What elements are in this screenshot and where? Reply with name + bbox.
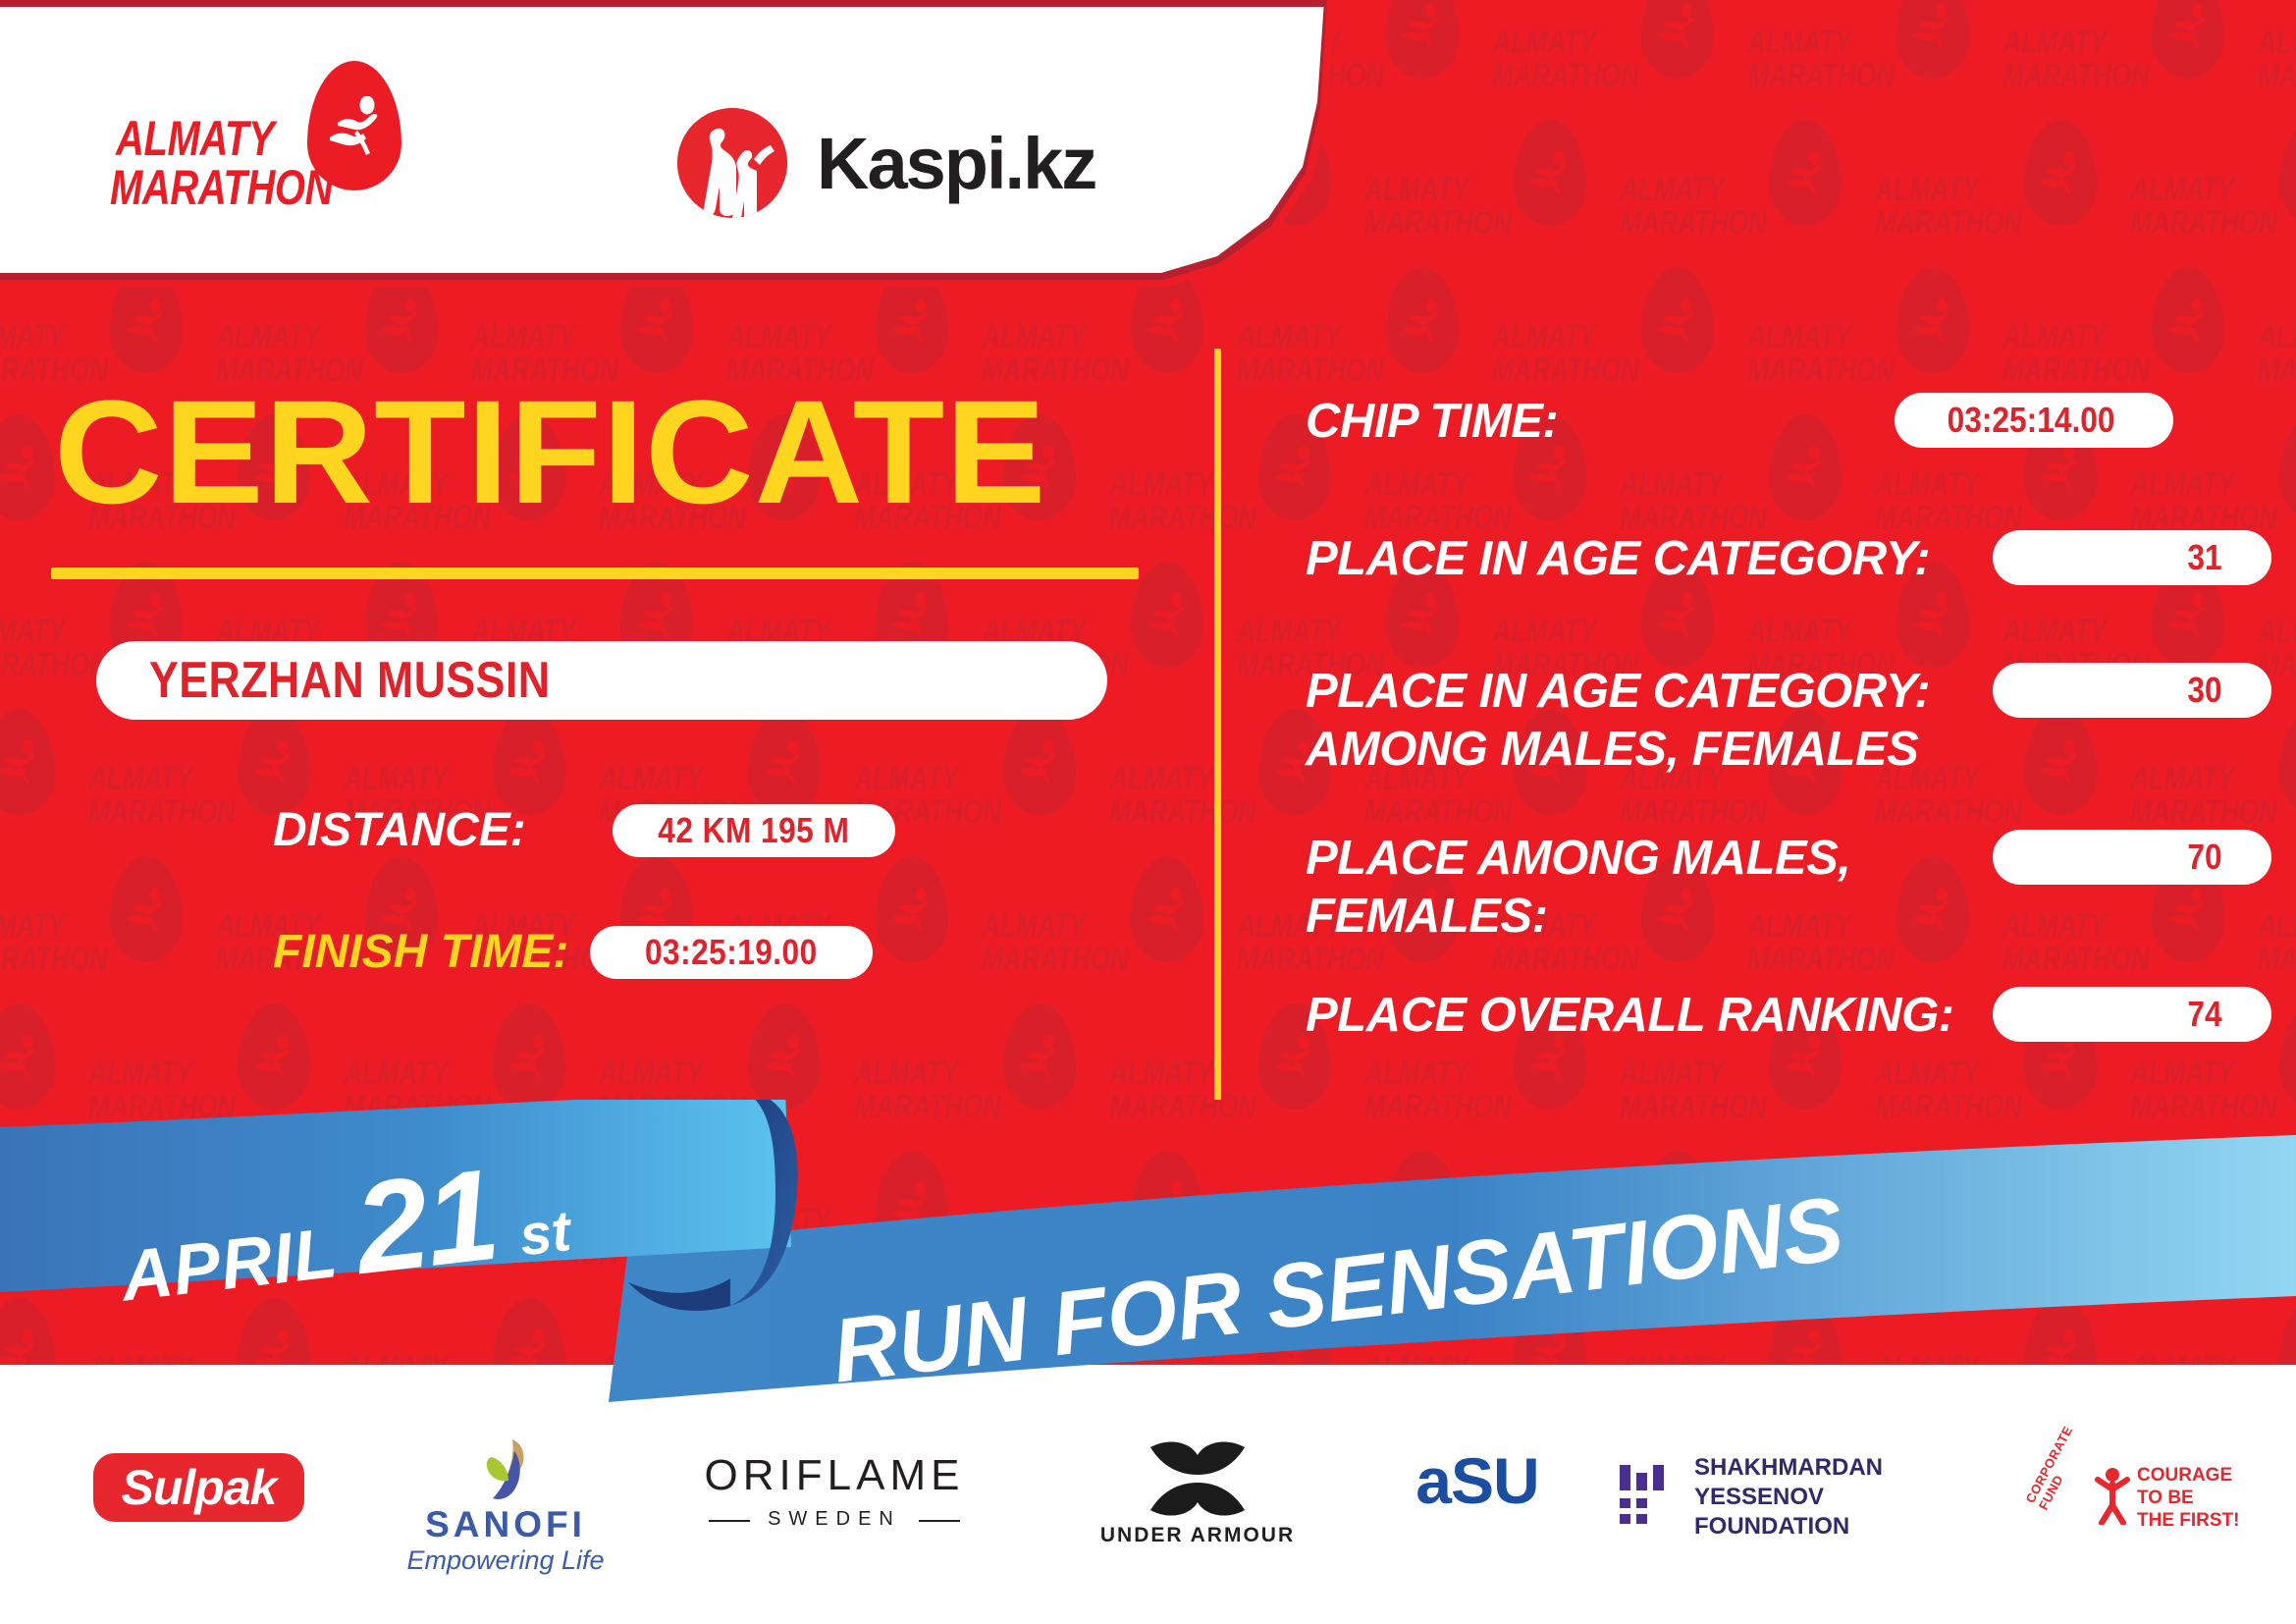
- result-row-place-age-category: PLACE IN AGE CATEGORY: 31: [1306, 530, 2271, 588]
- result-value-pill: 70: [1993, 830, 2271, 885]
- watermark-drop-icon: [1131, 0, 1203, 79]
- participant-name-value: YERZHAN MUSSIN: [149, 651, 551, 710]
- sponsor-courage-line3: THE FIRST!: [2137, 1509, 2245, 1532]
- watermark-line1: ALMATY: [216, 26, 320, 59]
- kaspi-logo: Kaspi.kz: [677, 108, 1095, 218]
- distance-value-pill: 42 KM 195 M: [613, 804, 895, 857]
- watermark-line1: ALMATY: [471, 26, 575, 59]
- certificate-page: ALMATYMARATHONALMATYMARATHONALMATYMARATH…: [0, 0, 2296, 1624]
- column-divider: [1214, 349, 1221, 1100]
- sponsor-yessenov-foundation: SHAKHMARDAN YESSENOV FOUNDATION: [1620, 1448, 2002, 1546]
- sponsor-courage-fund-text: COURAGE TO BE THE FIRST!: [2137, 1464, 2245, 1532]
- page-title: CERTIFICATE: [54, 378, 1046, 525]
- finish-time-row: FINISH TIME: 03:25:19.00: [273, 925, 873, 979]
- watermark-tile: ALMATYMARATHON: [471, 0, 726, 118]
- kaspi-circle-icon: [677, 108, 787, 218]
- sponsor-sanofi: SANOFI Empowering Life: [393, 1435, 618, 1563]
- result-value-pill: 74: [1993, 987, 2271, 1042]
- watermark-line2: MARATHON: [216, 1532, 363, 1565]
- runner-icon: [328, 96, 385, 157]
- ribbon-day-suffix: st: [516, 1198, 574, 1269]
- sponsor-sanofi-label: SANOFI: [393, 1504, 618, 1545]
- distance-value: 42 KM 195 M: [658, 810, 849, 851]
- result-row-chip-time: CHIP TIME: 03:25:14.00: [1306, 393, 2173, 451]
- finish-time-value-pill: 03:25:19.00: [590, 926, 873, 979]
- watermark-line1: ALMATY: [982, 1498, 1086, 1532]
- result-value: 70: [2187, 837, 2221, 878]
- sponsor-under-armour: UNDER ARMOUR: [1085, 1441, 1310, 1559]
- watermark-line2: MARATHON: [2258, 1532, 2296, 1565]
- watermark-drop-icon: [493, 120, 565, 226]
- watermark-line1: ALMATY: [0, 1498, 65, 1532]
- result-value-pill: 30: [1993, 663, 2271, 718]
- watermark-line2: MARATHON: [0, 1532, 108, 1565]
- watermark-line1: ALMATY: [1109, 173, 1213, 206]
- sponsor-courage-line2: TO BE: [2137, 1487, 2245, 1509]
- result-label: CHIP TIME:: [1306, 393, 1895, 451]
- sponsor-courage-line1: COURAGE: [2137, 1464, 2245, 1487]
- sponsor-under-armour-label: UNDER ARMOUR: [1085, 1524, 1310, 1547]
- sponsor-oriflame-sub: SWEDEN: [687, 1508, 982, 1531]
- sponsor-yessenov-line2: FOUNDATION: [1694, 1512, 2002, 1542]
- result-value-pill: 03:25:14.00: [1895, 393, 2173, 448]
- finish-time-label: FINISH TIME:: [273, 925, 568, 979]
- sponsor-asu-label: aSU: [1369, 1443, 1585, 1518]
- watermark-line2: MARATHON: [0, 59, 108, 92]
- distance-label: DISTANCE:: [273, 803, 526, 857]
- courage-figure-icon: [2092, 1466, 2133, 1525]
- yessenov-bars-icon: [1620, 1465, 1677, 1530]
- distance-row: DISTANCE: 42 KM 195 M: [273, 803, 895, 857]
- result-row-place-age-category-among: PLACE IN AGE CATEGORY: AMONG MALES, FEMA…: [1306, 663, 2271, 779]
- finish-time-value: 03:25:19.00: [645, 932, 818, 973]
- result-row-place-overall-ranking: PLACE OVERALL RANKING: 74: [1306, 987, 2271, 1045]
- ribbon-month: APRIL: [117, 1213, 342, 1317]
- result-value: 74: [2187, 994, 2221, 1035]
- watermark-line2: MARATHON: [1109, 206, 1256, 240]
- kaspi-logo-text: Kaspi.kz: [817, 122, 1095, 205]
- watermark-drop-icon: [0, 120, 55, 226]
- result-label: PLACE IN AGE CATEGORY:: [1306, 530, 1993, 588]
- sponsor-asu: aSU: [1369, 1443, 1585, 1542]
- result-value-pill: 31: [1993, 530, 2271, 585]
- title-underline: [51, 568, 1139, 579]
- watermark-drop-icon: [620, 1445, 693, 1551]
- result-label: PLACE AMONG MALES, FEMALES:: [1306, 830, 1993, 946]
- under-armour-mark-icon: [1139, 1441, 1256, 1516]
- participant-name-field: YERZHAN MUSSIN: [96, 641, 1107, 720]
- watermark-line1: ALMATY: [982, 26, 1086, 59]
- watermark-drop-icon: [620, 0, 693, 79]
- sponsor-yessenov-line1: SHAKHMARDAN YESSENOV: [1694, 1453, 2002, 1512]
- result-value: 03:25:14.00: [1947, 400, 2114, 441]
- watermark-line2: MARATHON: [982, 59, 1129, 92]
- watermark-line1: ALMATY: [0, 26, 65, 59]
- watermark-line2: MARATHON: [344, 206, 491, 240]
- result-label: PLACE OVERALL RANKING:: [1306, 987, 1993, 1045]
- sponsor-oriflame-label: ORIFLAME: [687, 1451, 982, 1500]
- watermark-tile: ALMATYMARATHON: [0, 118, 88, 265]
- watermark-line2: MARATHON: [471, 59, 618, 92]
- sanofi-mark-icon: [473, 1435, 536, 1500]
- almaty-marathon-logo: ALMATY MARATHON: [116, 61, 440, 189]
- watermark-line1: ALMATY: [726, 26, 830, 59]
- result-value: 30: [2187, 670, 2221, 711]
- result-value: 31: [2187, 537, 2221, 578]
- sponsor-yessenov-text: SHAKHMARDAN YESSENOV FOUNDATION: [1694, 1453, 2002, 1542]
- watermark-line1: ALMATY: [2258, 1498, 2296, 1532]
- sponsor-courage-fund: CORPORATE FUND COURAGE TO BE THE FIRST!: [2047, 1438, 2243, 1556]
- sponsor-sanofi-tagline: Empowering Life: [393, 1545, 618, 1576]
- sponsor-oriflame: ORIFLAME SWEDEN: [687, 1451, 982, 1549]
- watermark-tile: ALMATYMARATHON: [982, 0, 1237, 118]
- ribbon-day: 21: [347, 1140, 504, 1303]
- watermark-line2: MARATHON: [726, 59, 874, 92]
- sponsor-sulpak-label: Sulpak: [122, 1459, 277, 1516]
- watermark-tile: ALMATYMARATHON: [726, 0, 982, 118]
- result-label: PLACE IN AGE CATEGORY: AMONG MALES, FEMA…: [1306, 663, 1993, 779]
- almaty-logo-line1: ALMATY: [116, 114, 274, 163]
- sponsor-sulpak: Sulpak: [93, 1453, 304, 1522]
- almaty-logo-line2: MARATHON: [110, 163, 333, 212]
- watermark-tile: ALMATYMARATHON: [2258, 1443, 2296, 1591]
- result-row-place-among-males-females: PLACE AMONG MALES, FEMALES: 70: [1306, 830, 2271, 946]
- watermark-drop-icon: [876, 0, 948, 79]
